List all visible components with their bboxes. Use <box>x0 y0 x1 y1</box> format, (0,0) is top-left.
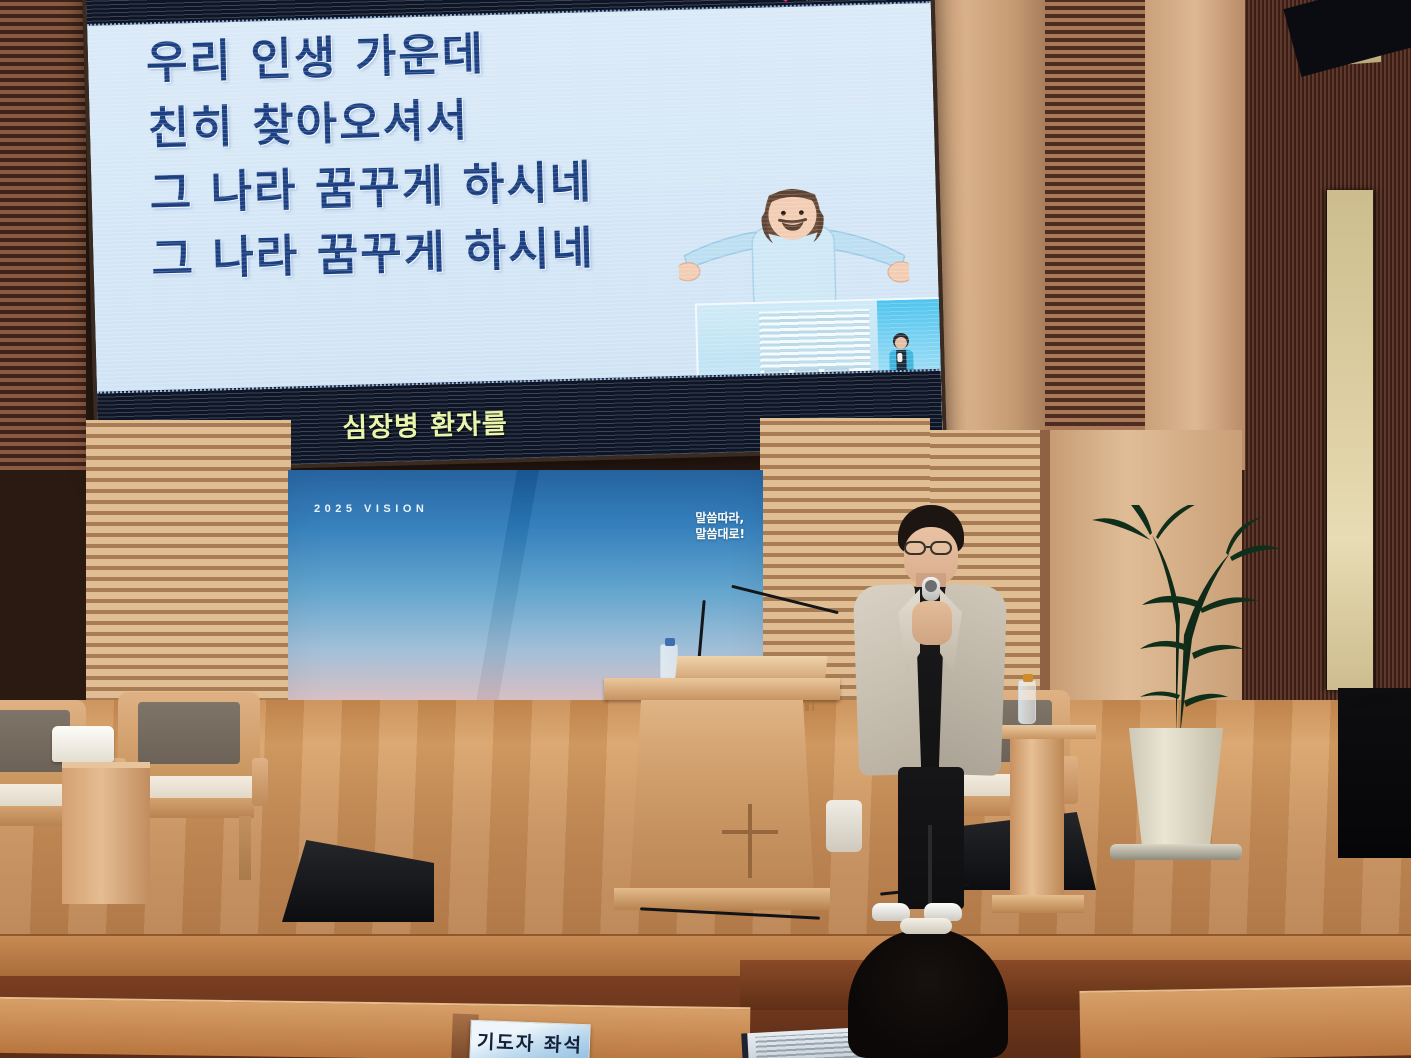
backdrop-slogan: 말씀따라, 말씀대로! <box>695 510 745 542</box>
wood-column-b <box>1145 0 1245 470</box>
projected-slide: 밀알심장재단 Milal Heart Foundation 우리 인생 가운데 … <box>86 0 943 470</box>
speaker-hands <box>912 601 952 645</box>
eyeglasses-icon-left <box>904 541 926 555</box>
pulpit-top <box>604 678 840 700</box>
pulpit-body <box>630 700 814 890</box>
eyeglasses-bridge <box>926 546 932 548</box>
wood-column-slatted <box>1045 0 1145 470</box>
foundation-logo-text: 밀알심장재단 Milal Heart Foundation <box>805 0 925 4</box>
speaker-pants-gap <box>928 825 932 909</box>
potted-plant-foliage <box>1080 505 1280 745</box>
right-stage-equipment <box>1338 688 1411 858</box>
pew-right-row <box>1079 985 1411 1058</box>
left-dark-slat-wall <box>0 0 86 470</box>
backdrop-slogan-line1: 말씀따라, <box>695 510 745 526</box>
foundation-name-en: Milal Heart Foundation <box>806 0 925 3</box>
prayer-seat-sign-text: 기도자 좌석 <box>477 1026 584 1057</box>
pew-front-row <box>0 997 750 1058</box>
handheld-microphone <box>922 577 940 601</box>
projection-screen: 밀알심장재단 Milal Heart Foundation 우리 인생 가운데 … <box>82 0 947 474</box>
cross-icon <box>748 804 752 878</box>
stage-side-table <box>62 762 150 904</box>
wall-light-slot <box>1327 190 1373 690</box>
heart-logo-icon <box>771 0 800 3</box>
hair-clip <box>900 918 952 934</box>
slide-lower-banner-text: 심장병 환자를 <box>342 401 508 444</box>
eyeglasses-icon-right <box>930 541 952 555</box>
wooden-pulpit <box>604 650 840 920</box>
prayer-seat-sign: 기도자 좌석 <box>469 1020 590 1058</box>
plant-pot-tray <box>1110 844 1242 860</box>
worship-service-photo: 밀알심장재단 Milal Heart Foundation 우리 인생 가운데 … <box>0 0 1411 1058</box>
cross-icon-bar <box>722 830 778 834</box>
stage-back-slat-wall-left <box>86 420 291 720</box>
folded-towel <box>52 726 114 762</box>
backdrop-vision-label: 2025 VISION <box>314 503 428 515</box>
backdrop-slogan-line2: 말씀대로! <box>695 526 745 542</box>
stage-speaker-person <box>842 505 1022 935</box>
